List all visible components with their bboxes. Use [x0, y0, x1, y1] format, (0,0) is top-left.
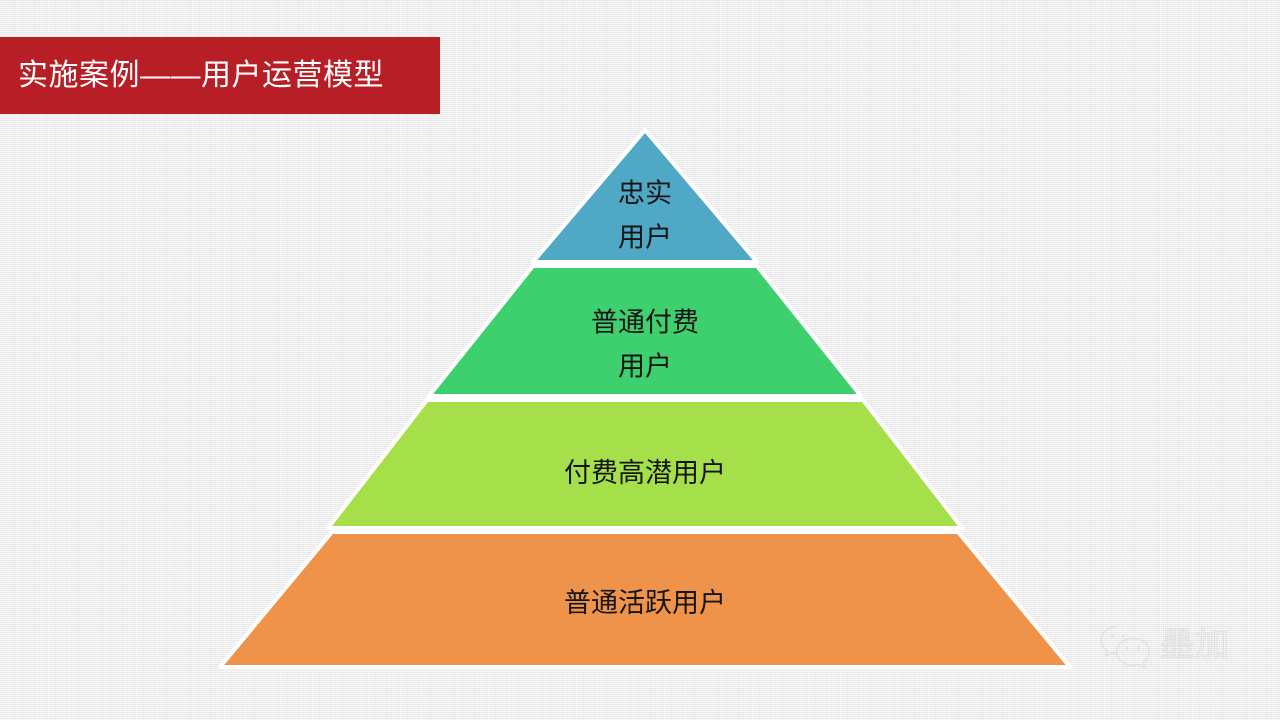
watermark-label: 墨加 [1160, 628, 1230, 662]
wechat-icon [1098, 621, 1154, 669]
pyramid-shapes [0, 0, 1280, 720]
watermark: 墨加 [1098, 614, 1276, 676]
pyramid-tier-4-shape[interactable] [220, 532, 1070, 667]
pyramid-tier-1-shape[interactable] [533, 130, 757, 262]
pyramid-diagram: 忠实 用户 普通付费 用户 付费高潜用户 普通活跃用户 [0, 0, 1280, 720]
pyramid-tier-2-shape[interactable] [429, 266, 861, 396]
slide-canvas: 实施案例——用户运营模型 忠实 用户 普通付费 用户 付费高潜用户 普通活跃用户 [0, 0, 1280, 720]
pyramid-tier-3-shape[interactable] [328, 400, 962, 528]
